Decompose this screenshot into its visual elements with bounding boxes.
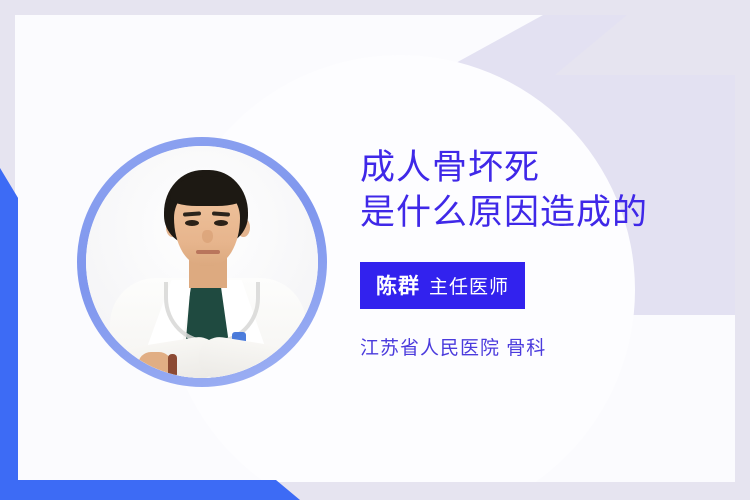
page-title: 成人骨坏死 是什么原因造成的 <box>360 145 725 235</box>
poster-card: 成人骨坏死 是什么原因造成的 陈群主任医师 江苏省人民医院 骨科 <box>15 15 735 482</box>
doctor-professional-title: 主任医师 <box>429 277 509 298</box>
doctor-portrait <box>77 137 327 387</box>
text-content: 成人骨坏死 是什么原因造成的 陈群主任医师 江苏省人民医院 骨科 <box>360 145 725 360</box>
poster-root: 成人骨坏死 是什么原因造成的 陈群主任医师 江苏省人民医院 骨科 <box>0 0 750 500</box>
left-accent-band <box>0 168 18 500</box>
portrait-photo <box>86 146 318 378</box>
bottom-accent-band <box>0 480 300 500</box>
doctor-affiliation: 江苏省人民医院 骨科 <box>360 333 725 360</box>
doctor-figure-illustration <box>86 146 318 378</box>
doctor-name: 陈群 <box>376 275 420 298</box>
doctor-name-badge: 陈群主任医师 <box>360 262 525 309</box>
